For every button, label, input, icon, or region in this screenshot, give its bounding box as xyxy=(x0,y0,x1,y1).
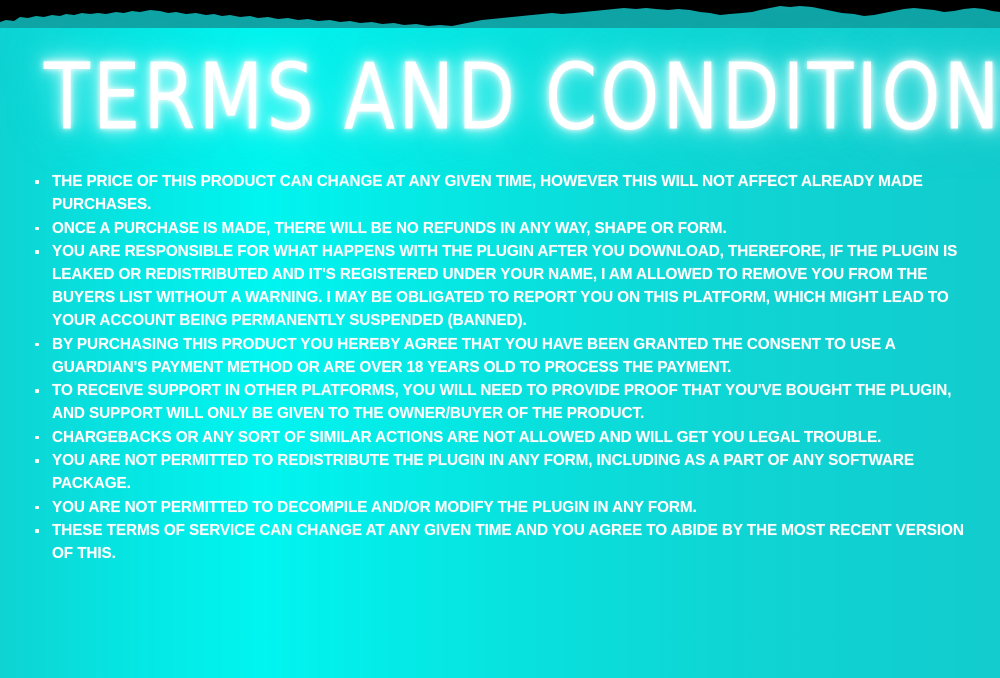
terms-list-item: By purchasing this product you hereby ag… xyxy=(30,333,982,379)
terms-list-item: Once a purchase is made, there will be n… xyxy=(30,217,982,240)
terms-list-item: These terms of service can change at any… xyxy=(30,519,982,565)
terms-list-item: To receive support in other platforms, y… xyxy=(30,379,982,425)
terms-list-item: You are not permitted to redistribute th… xyxy=(30,449,982,495)
terms-list-item: The price of this product can change at … xyxy=(30,170,982,216)
terms-list-item: Chargebacks or any sort of similar actio… xyxy=(30,426,982,449)
terms-and-conditions-graphic: TERMS AND CONDITIONS The price of this p… xyxy=(0,0,1000,678)
terms-list-item: You are not permitted to decompile and/o… xyxy=(30,496,982,519)
terms-list-item: You are responsible for what happens wit… xyxy=(30,240,982,332)
terms-list: The price of this product can change at … xyxy=(30,170,982,566)
